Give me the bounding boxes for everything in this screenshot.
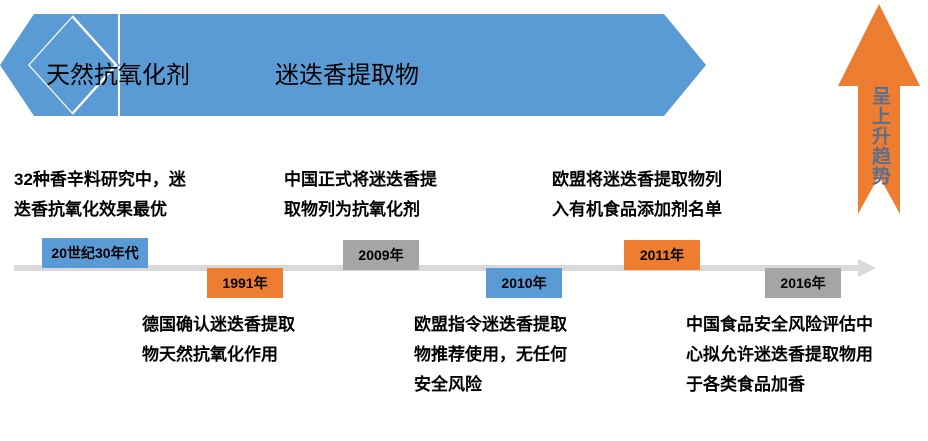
event-description-line: 于各类食品加香	[686, 370, 873, 400]
event-description-line: 德国确认迷迭香提取	[142, 310, 295, 340]
event-description-line: 心拟允许迷迭香提取物用	[686, 340, 873, 370]
event-description-line: 入有机食品添加剂名单	[552, 195, 722, 225]
timeline-chip-1991[interactable]: 1991年	[207, 268, 283, 298]
timeline-chip-label: 2011年	[640, 245, 684, 265]
banner-label-natural-antioxidant: 天然抗氧化剂	[46, 64, 190, 88]
event-description-line: 迭香抗氧化效果最优	[14, 195, 186, 225]
event-description-line: 中国食品安全风险评估中	[686, 310, 873, 340]
timeline-chip-label: 1991年	[222, 273, 267, 293]
event-description-1: 32种香辛料研究中，迷 迭香抗氧化效果最优	[14, 165, 186, 225]
banner-label-rosemary-extract: 迷迭香提取物	[275, 64, 419, 88]
event-description-line: 物天然抗氧化作用	[142, 340, 295, 370]
event-description-line: 欧盟指令迷迭香提取	[414, 310, 567, 340]
event-description-5: 欧盟将迷迭香提取物列 入有机食品添加剂名单	[552, 165, 722, 225]
event-description-line: 物推荐使用，无任何	[414, 340, 567, 370]
event-description-2: 德国确认迷迭香提取 物天然抗氧化作用	[142, 310, 295, 370]
timeline-chip-label: 2009年	[358, 245, 403, 265]
upward-trend-arrow-icon	[838, 4, 920, 256]
timeline-chip-label: 20世纪30年代	[51, 243, 138, 263]
event-description-3: 中国正式将迷迭香提 取物列为抗氧化剂	[284, 165, 437, 225]
event-description-line: 中国正式将迷迭香提	[284, 165, 437, 195]
timeline-chip-label: 2010年	[501, 273, 546, 293]
timeline-chip-2016[interactable]: 2016年	[765, 268, 841, 298]
event-description-line: 安全风险	[414, 370, 567, 400]
timeline-chip-2009[interactable]: 2009年	[343, 240, 419, 270]
timeline-chip-2011[interactable]: 2011年	[624, 240, 700, 270]
event-description-4: 欧盟指令迷迭香提取 物推荐使用，无任何 安全风险	[414, 310, 567, 400]
timeline-chip-2010[interactable]: 2010年	[486, 268, 562, 298]
timeline-axis-arrowhead-icon	[858, 259, 876, 277]
event-description-line: 32种香辛料研究中，迷	[14, 165, 186, 195]
event-description-line: 取物列为抗氧化剂	[284, 195, 437, 225]
infographic-canvas: 天然抗氧化剂 迷迭香提取物 呈上升趋势 32种香辛料研究中，迷 迭香抗氧化效果最…	[0, 0, 928, 441]
event-description-line: 欧盟将迷迭香提取物列	[552, 165, 722, 195]
event-description-6: 中国食品安全风险评估中 心拟允许迷迭香提取物用 于各类食品加香	[686, 310, 873, 400]
timeline-chip-label: 2016年	[780, 273, 825, 293]
title-banner: 天然抗氧化剂 迷迭香提取物	[0, 14, 706, 116]
timeline-chip-1930s[interactable]: 20世纪30年代	[42, 238, 148, 268]
